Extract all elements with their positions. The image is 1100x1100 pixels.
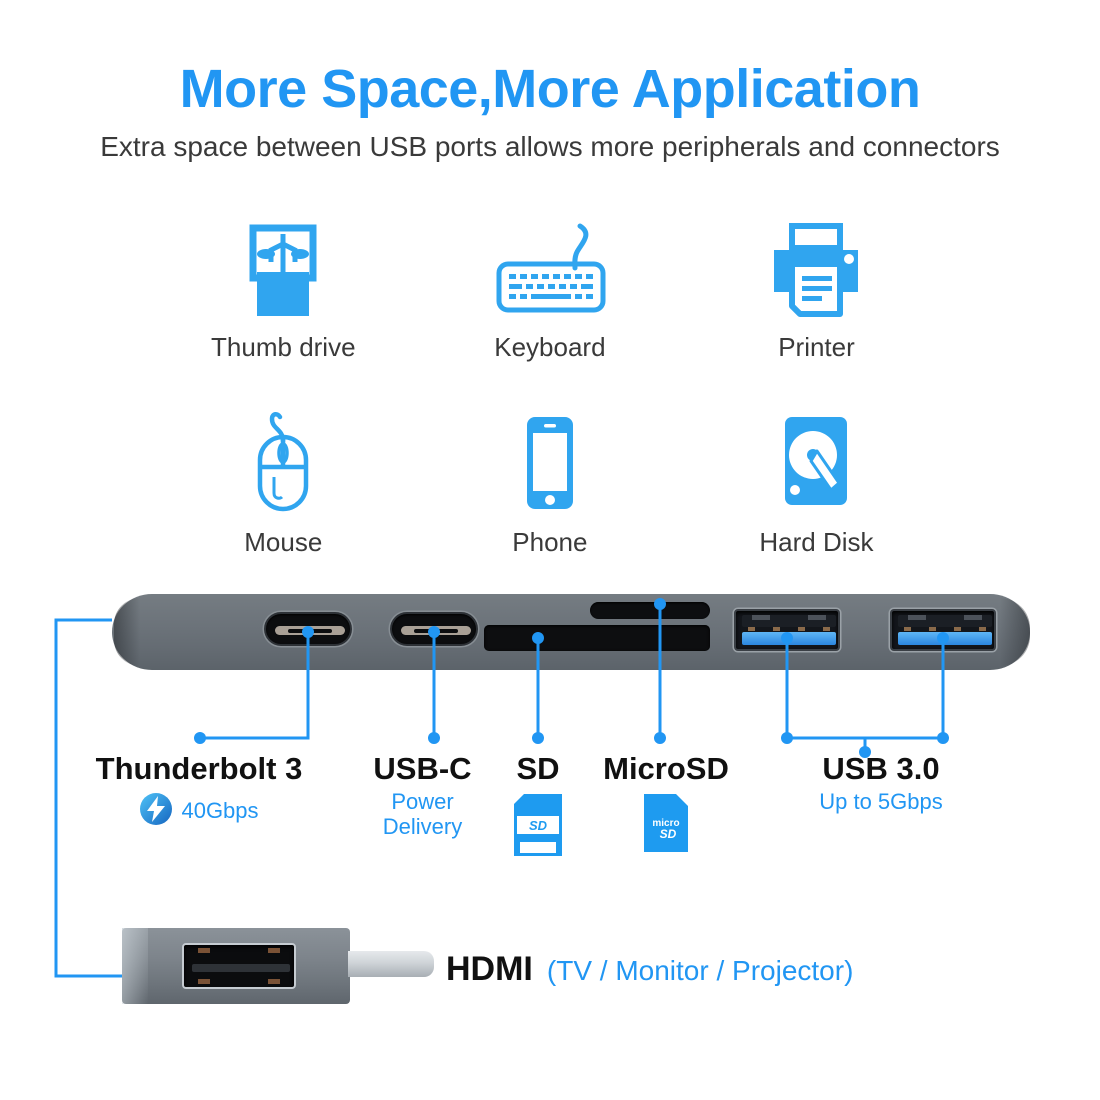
thunderbolt-icon bbox=[139, 792, 173, 826]
peripheral-grid: Thumb drive bbox=[150, 216, 950, 558]
label-sd: SD SD bbox=[498, 752, 578, 856]
port-usb3-left[interactable] bbox=[734, 609, 840, 651]
label-microsd: MicroSD micro SD bbox=[588, 752, 744, 852]
port-microsd-slot[interactable] bbox=[590, 602, 710, 619]
printer-icon bbox=[764, 216, 868, 320]
leader-dot-usb3-joint-right bbox=[937, 732, 949, 744]
port-usb-c[interactable] bbox=[390, 612, 478, 646]
leader-dot-microsd-label bbox=[654, 732, 666, 744]
peripheral-phone: Phone bbox=[417, 411, 684, 558]
label-hdmi: HDMI (TV / Monitor / Projector) bbox=[446, 950, 853, 989]
port-hdmi[interactable] bbox=[182, 943, 296, 989]
label-title: SD bbox=[498, 752, 578, 786]
leader-dot-usbc-label bbox=[428, 732, 440, 744]
mouse-icon bbox=[246, 411, 320, 515]
label-title: HDMI bbox=[446, 950, 533, 989]
hard-disk-icon bbox=[773, 411, 859, 515]
leader-dot-thunderbolt-label bbox=[194, 732, 206, 744]
label-sub: Up to 5Gbps bbox=[790, 790, 972, 815]
port-usb3-right[interactable] bbox=[890, 609, 996, 651]
peripheral-thumb-drive: Thumb drive bbox=[150, 216, 417, 363]
peripheral-label: Hard Disk bbox=[759, 527, 873, 558]
peripheral-mouse: Mouse bbox=[150, 411, 417, 558]
port-thunderbolt-3[interactable] bbox=[264, 612, 352, 646]
peripheral-keyboard: Keyboard bbox=[417, 216, 684, 363]
label-title: USB 3.0 bbox=[790, 752, 972, 786]
hdmi-cable bbox=[348, 951, 434, 977]
label-usb3: USB 3.0 Up to 5Gbps bbox=[790, 752, 972, 815]
label-sub-line1: Power bbox=[360, 790, 485, 815]
peripheral-printer: Printer bbox=[683, 216, 950, 363]
keyboard-icon bbox=[485, 216, 615, 320]
hdmi-adapter-body bbox=[122, 928, 350, 1004]
usb-hub-device bbox=[112, 594, 1030, 670]
port-sd-slot[interactable] bbox=[484, 625, 710, 651]
label-title: Thunderbolt 3 bbox=[74, 752, 324, 786]
peripheral-row-1: Thumb drive bbox=[150, 216, 950, 363]
microsd-card-icon: micro SD bbox=[644, 794, 688, 852]
label-title: USB-C bbox=[360, 752, 485, 786]
page-title: More Space,More Application bbox=[0, 58, 1100, 120]
peripheral-label: Printer bbox=[778, 332, 855, 363]
usb-thumb-drive-icon bbox=[237, 216, 329, 320]
peripheral-row-2: Mouse Phone bbox=[150, 411, 950, 558]
page-subtitle: Extra space between USB ports allows mor… bbox=[0, 131, 1100, 163]
leader-dot-sd-label bbox=[532, 732, 544, 744]
peripheral-hard-disk: Hard Disk bbox=[683, 411, 950, 558]
sd-card-icon: SD bbox=[514, 794, 562, 856]
peripheral-label: Phone bbox=[512, 527, 587, 558]
peripheral-label: Thumb drive bbox=[211, 332, 356, 363]
microsd-logo-bottom: SD bbox=[660, 827, 677, 841]
label-sub: 40Gbps bbox=[181, 799, 258, 824]
label-usbc: USB-C Power Delivery bbox=[360, 752, 485, 839]
sd-logo-text: SD bbox=[529, 818, 548, 833]
label-title: MicroSD bbox=[588, 752, 744, 786]
phone-icon bbox=[517, 411, 583, 515]
peripheral-label: Keyboard bbox=[494, 332, 605, 363]
label-sub-line2: Delivery bbox=[360, 815, 485, 840]
label-sub: (TV / Monitor / Projector) bbox=[547, 955, 854, 987]
label-thunderbolt: Thunderbolt 3 40Gbps bbox=[74, 752, 324, 826]
product-infographic: More Space,More Application Extra space … bbox=[0, 0, 1100, 1100]
leader-dot-usb3-joint-left bbox=[781, 732, 793, 744]
peripheral-label: Mouse bbox=[244, 527, 322, 558]
